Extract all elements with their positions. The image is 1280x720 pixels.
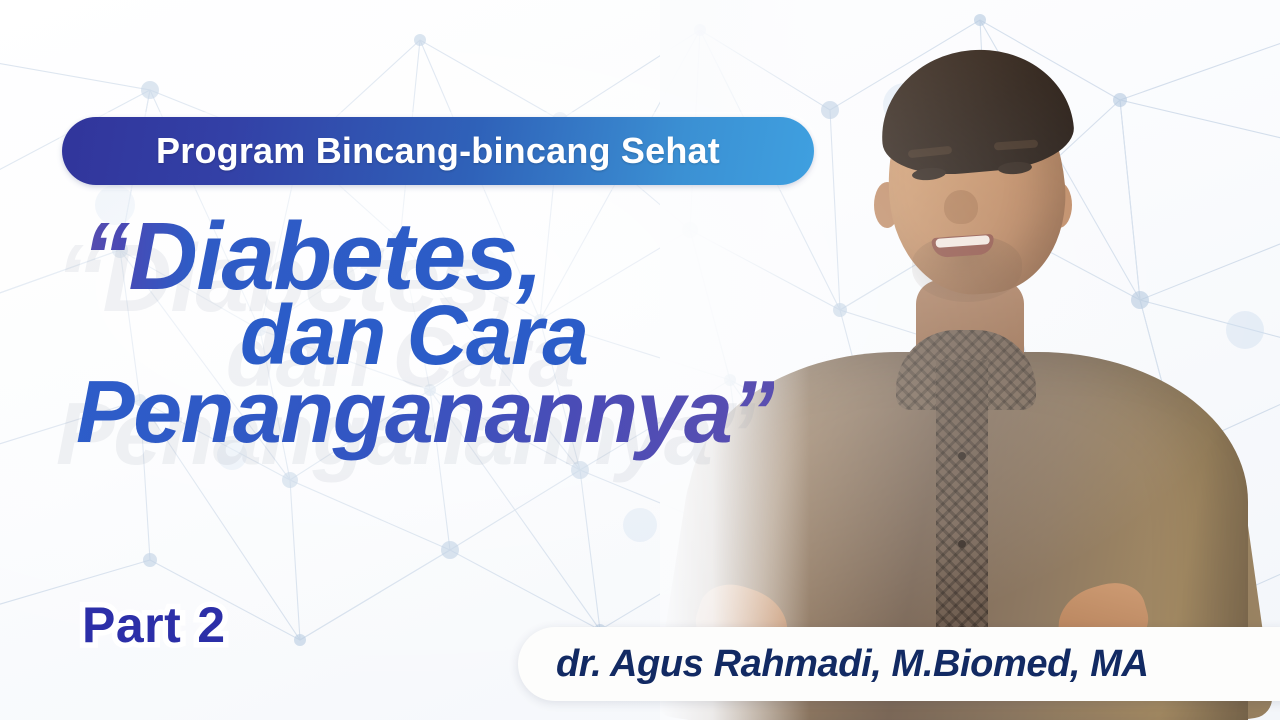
part-badge-label: Part (82, 596, 181, 654)
thumbnail-canvas: Program Bincang-bincang Sehat “Diabetes,… (0, 0, 1280, 720)
program-banner-label: Program Bincang-bincang Sehat (156, 130, 720, 172)
portrait-nose (944, 190, 978, 224)
program-banner: Program Bincang-bincang Sehat (62, 117, 814, 185)
title-line-3-text: Penanganannya” (76, 362, 774, 461)
title-line-3: Penanganannya” Penanganannya” (70, 371, 870, 454)
episode-title: “Diabetes, “Diabetes, dan Cara dan Cara … (70, 212, 870, 454)
speaker-name-pill: dr. Agus Rahmadi, M.Biomed, MA (518, 627, 1280, 701)
portrait-teeth (935, 235, 989, 248)
portrait-button (958, 452, 966, 460)
portrait-button (958, 540, 966, 548)
part-badge-number: 2 (197, 596, 225, 654)
part-badge: Part 2 (82, 596, 226, 654)
speaker-name-text: dr. Agus Rahmadi, M.Biomed, MA (556, 643, 1149, 686)
